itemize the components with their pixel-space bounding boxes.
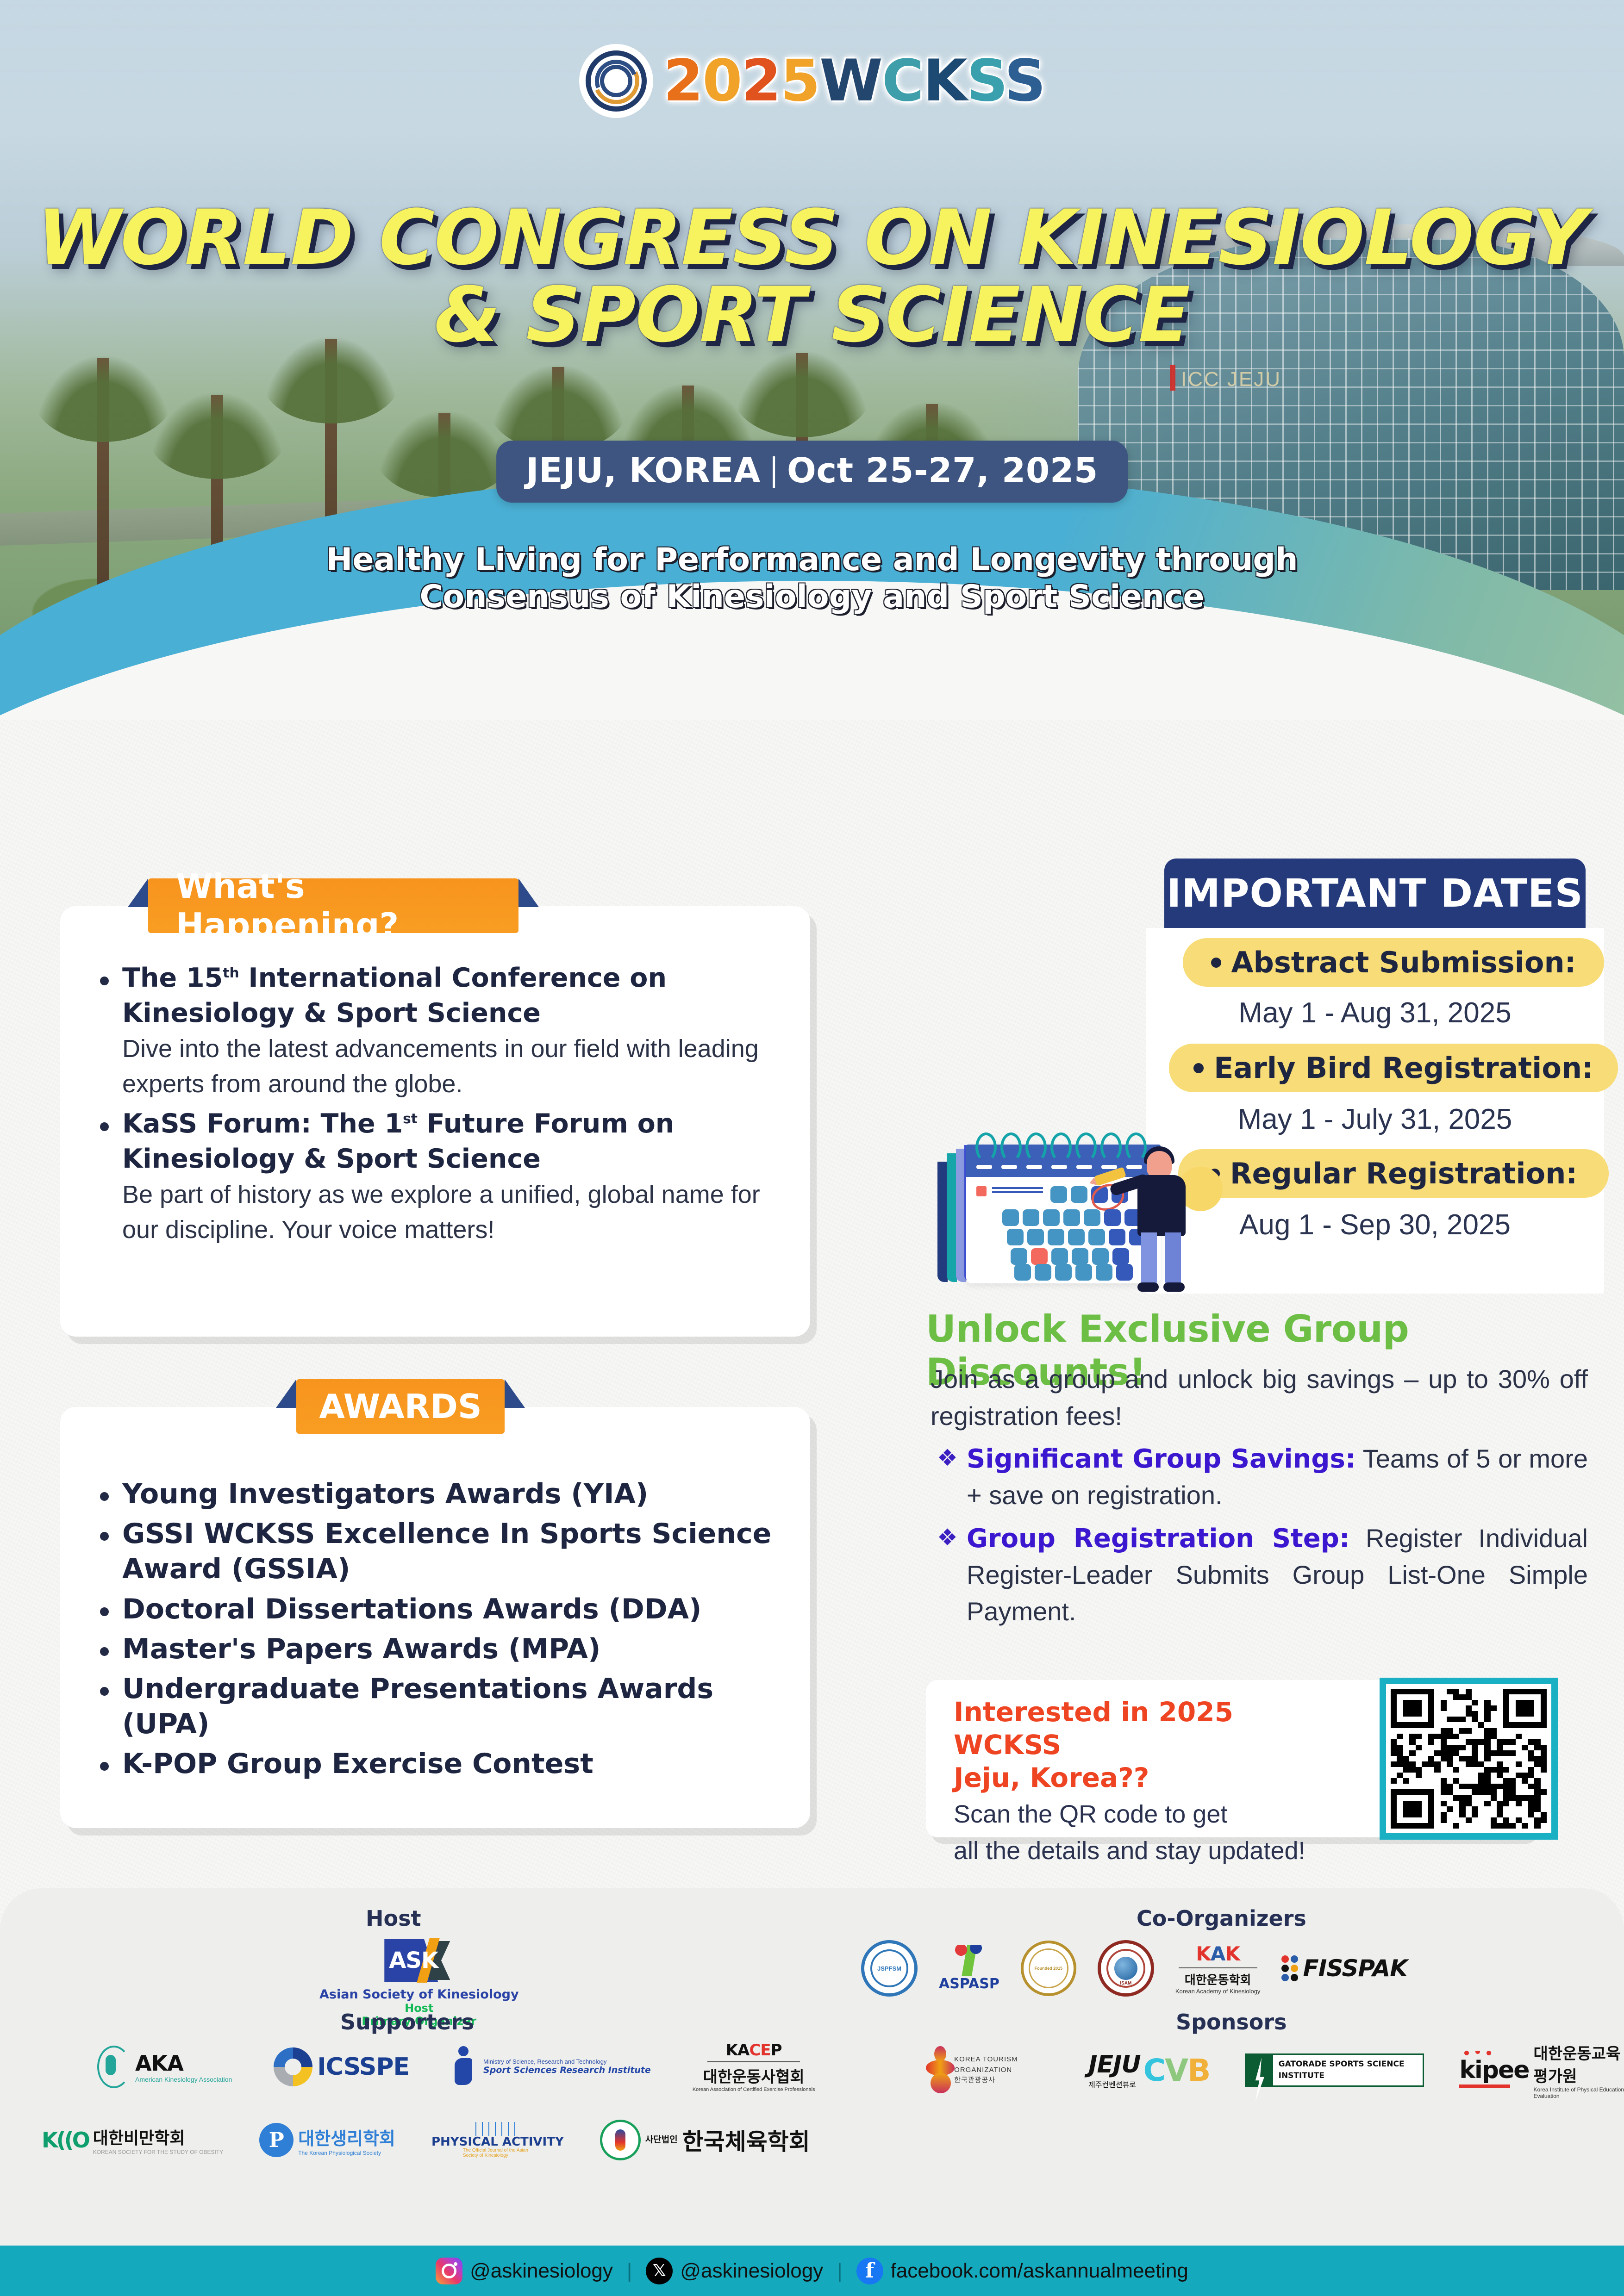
qr-headline-1: Interested in 2025 WCKSS — [954, 1696, 1347, 1761]
ksso-mark-icon: K((O — [42, 2128, 88, 2153]
kto-korean-label: 한국관광공사 — [954, 2075, 1053, 2086]
kak-english-name: Korean Academy of Kinesiology — [1175, 1988, 1261, 1995]
co-organizers-logos: JSPFSM ASPASP Founded 2015 ISAM KAK 대한운동… — [861, 1940, 1407, 1997]
calendar-title-lines — [992, 1187, 1043, 1195]
location-label: JEJU, KOREA — [526, 451, 761, 491]
group-discounts-body: Join as a group and unlock big savings –… — [931, 1361, 1588, 1636]
person-shoe — [1137, 1282, 1159, 1292]
poster-page: ICC JEJU 2025WCKSS WORLD CONGRESS ON KIN… — [0, 0, 1624, 2296]
calendar-ring — [1050, 1132, 1072, 1162]
calendar-ring — [1100, 1132, 1122, 1162]
bullet-dot — [1193, 1063, 1204, 1073]
physical-activity-journal-logo: PHYSICAL ACTIVITY The Official Journal o… — [431, 2122, 564, 2158]
sponsors-logos: KOREA TOURISM ORGANIZATION 한국관광공사 JEJU제주… — [926, 2041, 1624, 2099]
calendar-ring — [975, 1132, 997, 1162]
item-title: KaSS Forum: The 1st Future Forum on Kine… — [122, 1107, 782, 1177]
facebook-handle[interactable]: f facebook.com/askannualmeeting — [856, 2258, 1188, 2284]
bullet-dot — [1211, 958, 1221, 968]
kipee-wordmark: kipee — [1459, 2056, 1529, 2084]
date-value-early-bird: May 1 - July 31, 2025 — [1146, 1103, 1604, 1136]
logo-swirl — [587, 51, 646, 111]
aka-logo: AKA American Kinesiology Association — [97, 2046, 232, 2088]
wckss-circular-logo-icon — [579, 44, 653, 118]
korea-tourism-organization-logo: KOREA TOURISM ORGANIZATION 한국관광공사 — [926, 2046, 1053, 2094]
ordinal-suffix: st — [403, 1110, 418, 1126]
qr-code-inner — [1386, 1684, 1551, 1833]
kahperd-logo: 사단법인 한국체육학회 — [600, 2120, 810, 2160]
kipee-logo: kipee 대한운동교육평가원 Korea Institute of Physi… — [1459, 2041, 1624, 2099]
ask-acronym: ASK — [389, 1948, 438, 1973]
award-label: GSSI WCKSS Excellence In Sports Science … — [122, 1516, 787, 1587]
globe-icon — [1114, 1957, 1137, 1980]
co-organizers-heading: Co-Organizers — [1137, 1906, 1306, 1931]
important-dates-heading: IMPORTANT DATES — [1164, 859, 1586, 928]
badge-separator — [773, 456, 775, 488]
calendar-body — [966, 1145, 1161, 1283]
host-heading: Host — [366, 1906, 421, 1931]
lightning-bolt-icon — [1246, 2055, 1273, 2085]
kipee-korean-name: 대한운동교육평가원 — [1534, 2041, 1624, 2086]
instagram-icon — [436, 2258, 462, 2284]
physical-activity-label: PHYSICAL ACTIVITY — [431, 2136, 564, 2148]
calendar-ring — [1125, 1132, 1147, 1162]
supporters-logos-row-2: K((O 대한비만학회 KOREAN SOCIETY FOR THE STUDY… — [42, 2120, 810, 2160]
list-item: Master's Papers Awards (MPA) — [88, 1631, 787, 1667]
item-title: The 15th International Conference on Kin… — [122, 961, 782, 1031]
asian-nutrition-society-logo: Founded 2015 — [1021, 1941, 1076, 1996]
ksso-korean-name: 대한비만학회 — [93, 2125, 223, 2149]
kps-mark-icon: P — [259, 2123, 294, 2157]
ask-full-name: Asian Society of Kinesiology — [319, 1987, 519, 2002]
aka-sub-label: American Kinesiology Association — [135, 2076, 232, 2083]
person-shoe — [1163, 1282, 1185, 1292]
instagram-label: @askinesiology — [470, 2259, 613, 2283]
qr-headline-2: Jeju, Korea?? — [954, 1761, 1347, 1794]
kto-mark-icon — [926, 2046, 949, 2094]
important-dates-panel: Abstract Submission: May 1 - Aug 31, 202… — [1146, 928, 1604, 1294]
instagram-handle[interactable]: @askinesiology — [436, 2258, 613, 2284]
ksso-logo: K((O 대한비만학회 KOREAN SOCIETY FOR THE STUDY… — [42, 2125, 223, 2155]
gatorade-sports-science-institute-logo: GATORADE SPORTS SCIENCE INSTITUTE — [1245, 2053, 1424, 2086]
awards-body: Young Investigators Awards (YIA) GSSI WC… — [88, 1476, 787, 1786]
logo-wordmark: 2025WCKSS — [663, 52, 1045, 110]
logo-core — [604, 69, 628, 93]
footer-section: Host ASK Asian Society of Kinesiology Ho… — [0, 1888, 1624, 2246]
title-line-2: & SPORT SCIENCE — [0, 276, 1624, 354]
kps-english-name: The Korean Physiological Society — [298, 2150, 395, 2156]
list-item: GSSI WCKSS Excellence In Sports Science … — [88, 1516, 787, 1587]
fisspak-logo: FISSPAK — [1281, 1955, 1407, 1982]
aka-label: AKA — [135, 2051, 232, 2076]
qr-sub-1: Scan the QR code to get — [954, 1798, 1347, 1830]
supporters-heading: Supporters — [340, 2010, 474, 2035]
ask-logo-icon: ASK — [384, 1935, 454, 1985]
ordinal-suffix: th — [223, 964, 239, 981]
award-label: K-POP Group Exercise Contest — [122, 1746, 787, 1781]
x-label: @askinesiology — [680, 2259, 823, 2283]
kacep-english-name: Korean Association of Certified Exercise… — [693, 2087, 815, 2092]
person-leg — [1165, 1232, 1181, 1286]
award-label: Master's Papers Awards (MPA) — [122, 1631, 787, 1667]
list-item: KaSS Forum: The 1st Future Forum on Kine… — [88, 1107, 782, 1248]
social-separator: | — [627, 2259, 632, 2283]
list-item: Doctoral Dissertations Awards (DDA) — [88, 1592, 787, 1627]
tagline-line-2: Consensus of Kinesiology and Sport Scien… — [0, 579, 1624, 616]
jeju-cvb-logo: JEJU제주컨벤션뷰로 CVB — [1088, 2051, 1210, 2090]
awards-tab: AWARDS — [296, 1379, 505, 1434]
x-twitter-icon: 𝕏 — [646, 2258, 673, 2284]
event-dates-label: Oct 25-27, 2025 — [787, 451, 1098, 491]
calendar-person-illustration — [937, 1127, 1197, 1289]
tagline-line-1: Healthy Living for Performance and Longe… — [0, 541, 1624, 579]
list-item: Young Investigators Awards (YIA) — [88, 1476, 787, 1512]
person-head — [1147, 1151, 1172, 1179]
kak-logo: KAK 대한운동학회 Korean Academy of Kinesiology — [1175, 1942, 1261, 1995]
award-label: Doctoral Dissertations Awards (DDA) — [122, 1592, 787, 1627]
icsspe-label: ICSSPE — [317, 2053, 409, 2081]
kacep-logo: KACEP 대한운동사협회 Korean Association of Cert… — [693, 2041, 815, 2092]
kto-label: KOREA TOURISM ORGANIZATION — [954, 2054, 1053, 2075]
kak-korean-name: 대한운동학회 — [1185, 1971, 1251, 1988]
x-handle[interactable]: 𝕏 @askinesiology — [646, 2258, 823, 2284]
isam-logo: ISAM — [1098, 1940, 1154, 1997]
fisspak-dots-icon — [1281, 1955, 1298, 1981]
awards-card: AWARDS Young Investigators Awards (YIA) … — [60, 1407, 810, 1828]
list-item: The 15th International Conference on Kin… — [88, 961, 782, 1102]
event-logo: 2025WCKSS — [0, 44, 1624, 118]
icsspe-mark-icon — [274, 2047, 312, 2086]
icsspe-logo: ICSSPE — [274, 2047, 409, 2086]
kahperd-mark-icon — [600, 2120, 641, 2160]
ssri-ministry-label: Ministry of Science, Research and Techno… — [483, 2058, 651, 2065]
kps-korean-name: 대한생리학회 — [298, 2124, 395, 2150]
page-title: WORLD CONGRESS ON KINESIOLOGY & SPORT SC… — [0, 199, 1624, 354]
facebook-label: facebook.com/askannualmeeting — [891, 2259, 1188, 2283]
calendar-ring — [1025, 1132, 1047, 1162]
calendar-tag — [976, 1186, 987, 1196]
title-line-1: WORLD CONGRESS ON KINESIOLOGY — [0, 199, 1624, 276]
social-separator: | — [837, 2259, 842, 2283]
kacep-korean-name: 대한운동사협회 — [703, 2064, 805, 2087]
list-item: Group Registration Step: Register Indivi… — [931, 1520, 1588, 1630]
qr-sub-2: all the details and stay updated! — [954, 1835, 1347, 1867]
bullet-bold-label: Group Registration Step: — [967, 1524, 1349, 1554]
social-bar: @askinesiology | 𝕏 @askinesiology | f fa… — [0, 2246, 1624, 2296]
facebook-icon: f — [856, 2258, 883, 2284]
fisspak-label: FISSPAK — [1303, 1955, 1407, 1982]
qr-code[interactable] — [1380, 1678, 1558, 1840]
ssri-logo: Ministry of Science, Research and Techno… — [451, 2046, 651, 2088]
supporters-logos-row-1: AKA American Kinesiology Association ICS… — [97, 2041, 815, 2092]
list-item: Significant Group Savings: Teams of 5 or… — [931, 1441, 1588, 1514]
list-item: Undergraduate Presentations Awards (UPA) — [88, 1671, 787, 1742]
sponsors-heading: Sponsors — [1176, 2010, 1287, 2035]
aspasp-label: ASPASP — [939, 1976, 999, 1992]
item-description: Dive into the latest advancements in our… — [122, 1031, 782, 1102]
ksso-english-name: KOREAN SOCIETY FOR THE STUDY OF OBESITY — [93, 2149, 223, 2155]
ssri-label: Sport Sciences Research Institute — [483, 2065, 651, 2075]
group-discounts-lead: Join as a group and unlock big savings –… — [931, 1361, 1588, 1434]
kps-logo: P 대한생리학회 The Korean Physiological Societ… — [259, 2123, 395, 2157]
date-label-regular: Regular Registration: — [1178, 1149, 1609, 1198]
cvb-korean-label: 제주컨벤션뷰로 — [1088, 2078, 1140, 2090]
person-body — [1137, 1175, 1186, 1236]
jspfsm-logo: JSPFSM — [861, 1940, 918, 1997]
award-label: Undergraduate Presentations Awards (UPA) — [122, 1671, 787, 1742]
location-date-badge: JEJU, KOREAOct 25-27, 2025 — [496, 441, 1128, 503]
kahperd-korean-name: 한국체육학회 — [682, 2123, 810, 2157]
calendar-ring — [1000, 1132, 1022, 1162]
aspasp-logo: ASPASP — [939, 1945, 999, 1992]
kahperd-prefix: 사단법인 — [645, 2135, 678, 2145]
calendar-ring — [1075, 1132, 1097, 1162]
whats-happening-card: What's Happening? The 15th International… — [60, 906, 810, 1337]
gssi-label: GATORADE SPORTS SCIENCE INSTITUTE — [1273, 2055, 1423, 2085]
date-value-regular: Aug 1 - Sep 30, 2025 — [1146, 1208, 1604, 1241]
award-label: Young Investigators Awards (YIA) — [122, 1476, 787, 1512]
person-leg — [1141, 1232, 1157, 1286]
qr-code-modules — [1391, 1689, 1547, 1829]
physical-activity-sub: The Official Journal of the Asian Societ… — [463, 2148, 532, 2158]
ssri-mark-icon — [451, 2046, 480, 2088]
kipee-english-name: Korea Institute of Physical Education Ev… — [1534, 2086, 1624, 2099]
qr-text-block: Interested in 2025 WCKSS Jeju, Korea?? S… — [954, 1696, 1347, 1867]
bullet-bold-label: Significant Group Savings: — [967, 1444, 1355, 1474]
ecg-line-icon — [475, 2122, 520, 2136]
whats-happening-body: The 15th International Conference on Kin… — [88, 961, 782, 1252]
aka-mark-icon — [97, 2046, 131, 2088]
date-value-abstract: May 1 - Aug 31, 2025 — [1146, 996, 1604, 1029]
item-description: Be part of history as we explore a unifi… — [122, 1177, 782, 1248]
date-label-early-bird: Early Bird Registration: — [1169, 1044, 1618, 1092]
date-label-abstract: Abstract Submission: — [1183, 938, 1604, 987]
hero-tagline: Healthy Living for Performance and Longe… — [0, 541, 1624, 616]
whats-happening-tab: What's Happening? — [148, 878, 518, 933]
list-item: K-POP Group Exercise Contest — [88, 1746, 787, 1781]
